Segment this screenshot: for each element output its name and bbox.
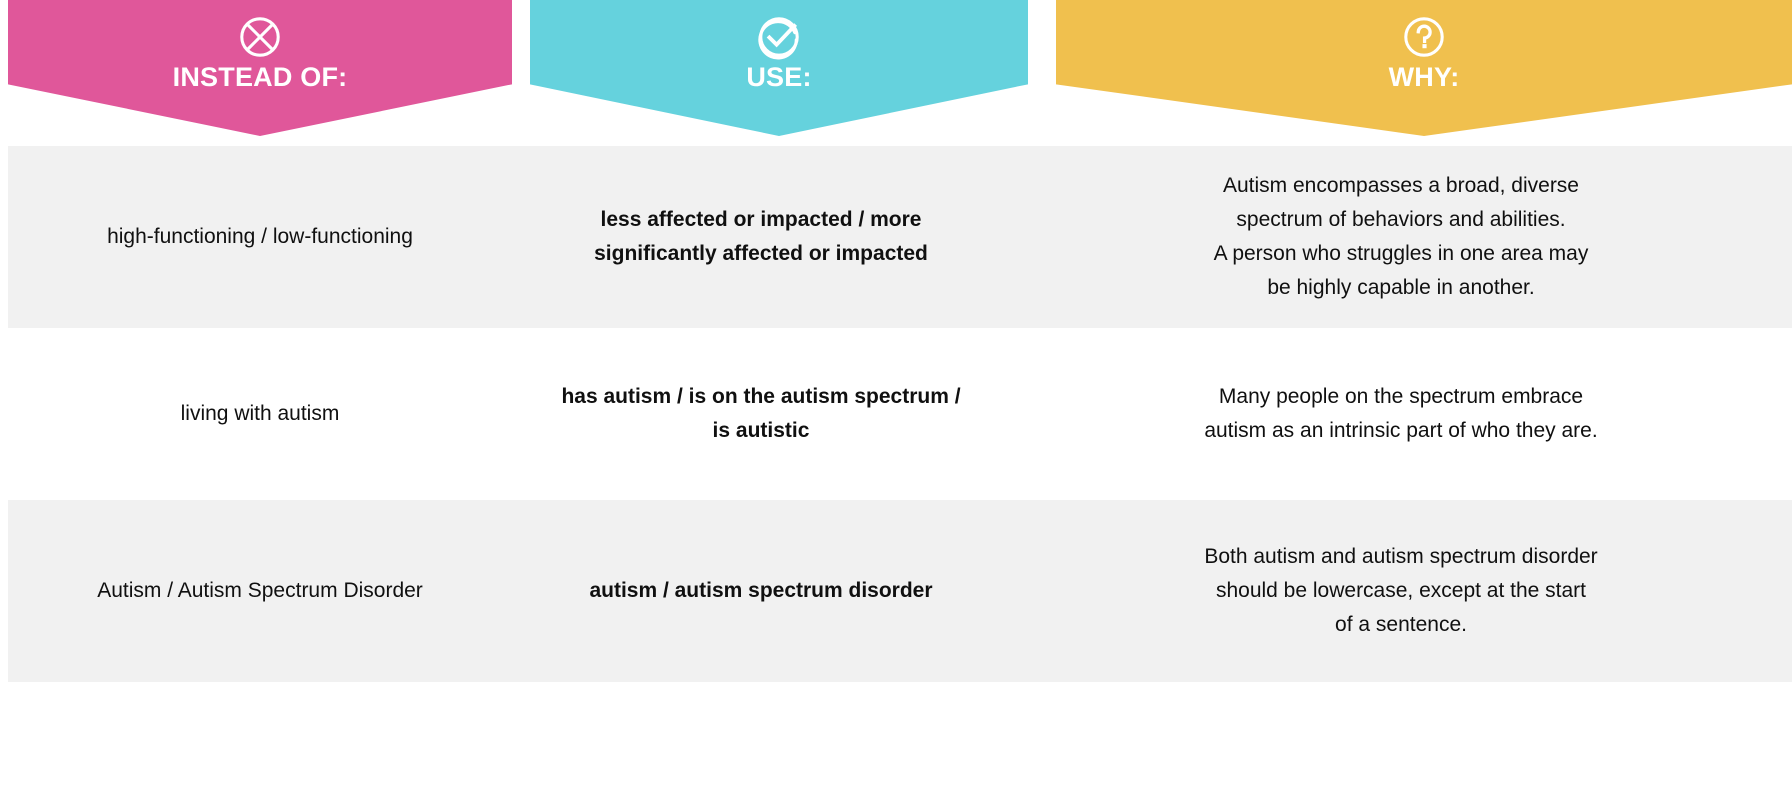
cell-text: Both autism and autism spectrum disorder… xyxy=(1204,540,1597,642)
cell-instead-of: living with autism xyxy=(8,328,512,500)
cell-why: Many people on the spectrum embrace auti… xyxy=(1010,328,1792,500)
infographic-page: INSTEAD OF: USE: WHY: xyxy=(0,0,1792,810)
table-row: high-functioning / low-functioning less … xyxy=(8,146,1792,328)
header-banner-why: WHY: xyxy=(1056,0,1792,136)
cell-use: less affected or impacted / more signifi… xyxy=(512,146,1010,328)
cell-text: high-functioning / low-functioning xyxy=(107,223,413,251)
cell-use: has autism / is on the autism spectrum /… xyxy=(512,328,1010,500)
header-banner-label: WHY: xyxy=(1389,64,1460,91)
cell-text: Autism / Autism Spectrum Disorder xyxy=(97,577,423,605)
cell-text: living with autism xyxy=(181,400,340,428)
cell-instead-of: high-functioning / low-functioning xyxy=(8,146,512,328)
header-banner-label: USE: xyxy=(746,64,811,91)
header-banner-instead-of: INSTEAD OF: xyxy=(8,0,512,136)
cell-why: Both autism and autism spectrum disorder… xyxy=(1010,500,1792,682)
cell-text: Autism encompasses a broad, diverse spec… xyxy=(1214,169,1589,305)
table-row: living with autism has autism / is on th… xyxy=(8,328,1792,500)
header-banner-use: USE: xyxy=(530,0,1028,136)
cell-use: autism / autism spectrum disorder xyxy=(512,500,1010,682)
cell-instead-of: Autism / Autism Spectrum Disorder xyxy=(8,500,512,682)
cell-text: less affected or impacted / more signifi… xyxy=(594,203,928,271)
cell-text: Many people on the spectrum embrace auti… xyxy=(1204,380,1597,448)
table-row: Autism / Autism Spectrum Disorder autism… xyxy=(8,500,1792,682)
comparison-table: high-functioning / low-functioning less … xyxy=(8,146,1792,682)
circle-question-icon xyxy=(1401,14,1447,60)
circle-x-icon xyxy=(237,14,283,60)
circle-check-icon xyxy=(756,14,802,60)
cell-text: autism / autism spectrum disorder xyxy=(589,574,932,608)
header-banner-group: INSTEAD OF: USE: WHY: xyxy=(0,0,1792,136)
cell-text: has autism / is on the autism spectrum /… xyxy=(561,380,960,448)
cell-why: Autism encompasses a broad, diverse spec… xyxy=(1010,146,1792,328)
header-banner-label: INSTEAD OF: xyxy=(173,64,348,91)
